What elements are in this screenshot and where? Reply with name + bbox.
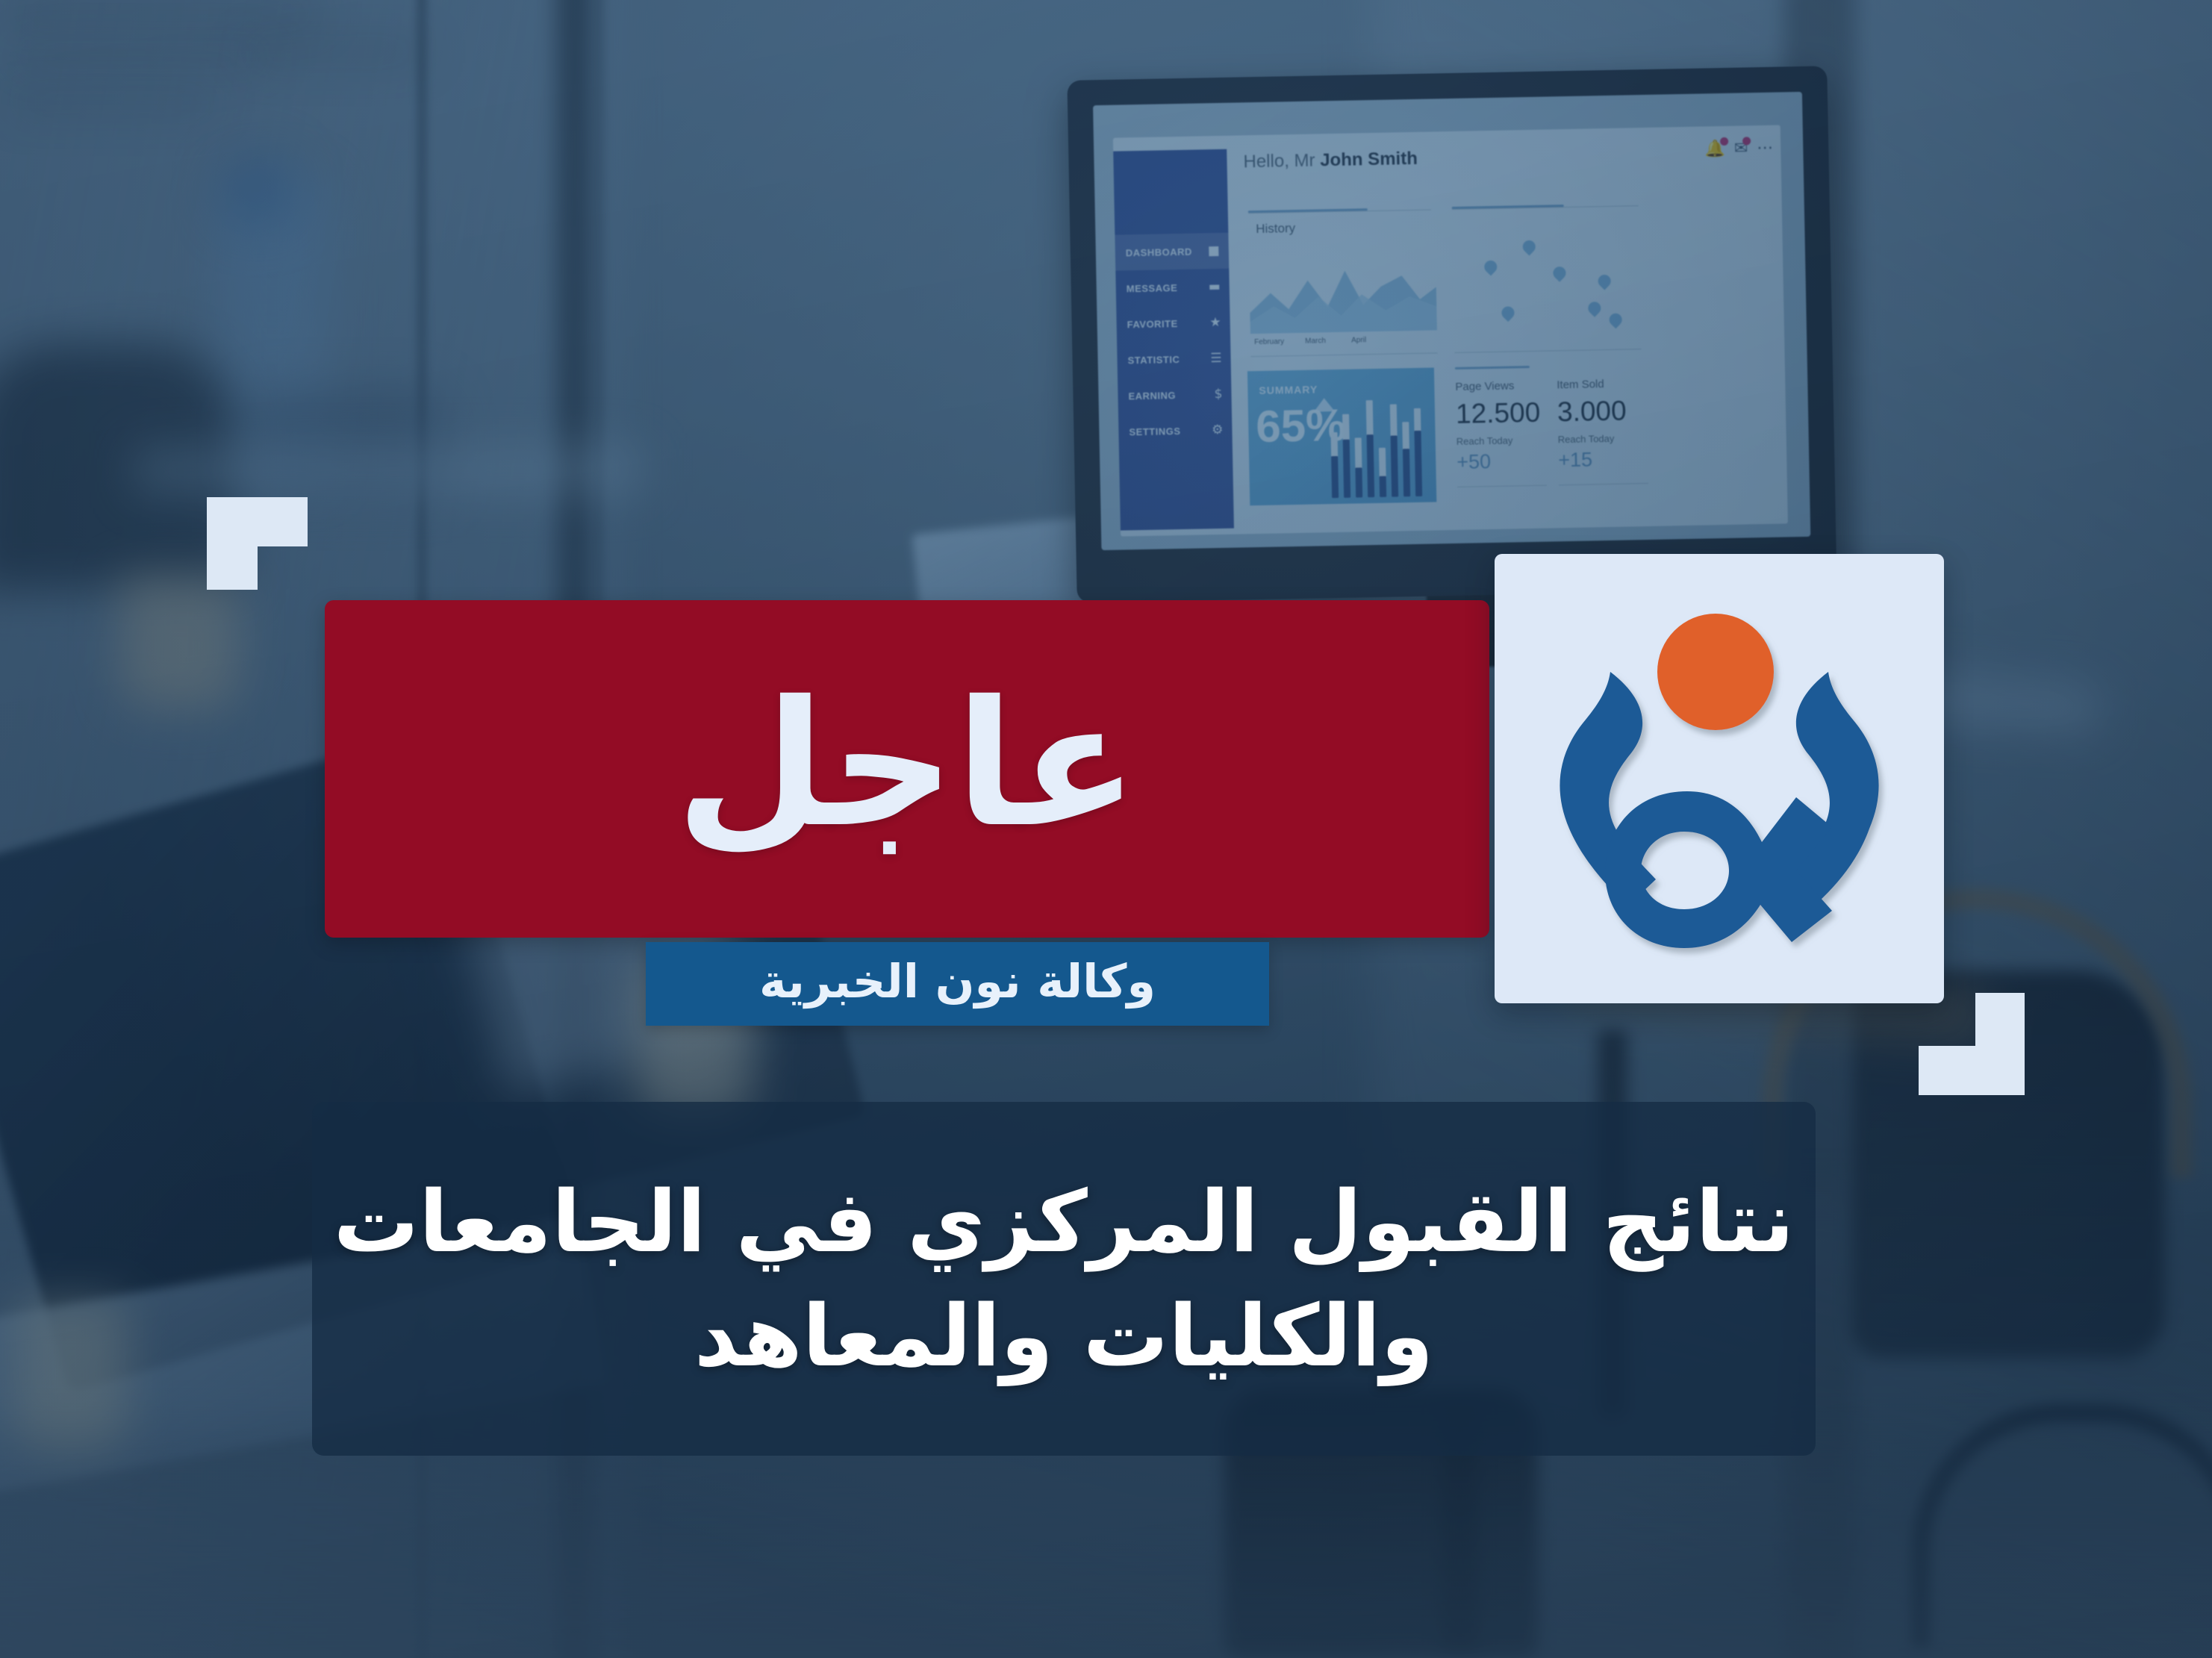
headline-line-1: نتائج القبول المركزي في الجامعات	[334, 1170, 1795, 1274]
noon-agency-logo-icon	[1495, 554, 1944, 1003]
agency-label: وكالة نون الخبرية	[759, 959, 1156, 1005]
urgent-banner: عاجل	[325, 600, 1489, 938]
corner-bracket-bottom-right	[1919, 993, 2025, 1095]
corner-bracket-top-left	[207, 497, 308, 590]
logo-orange-dot	[1657, 614, 1774, 730]
news-graphic-canvas: Hello, Mr John Smith 🔔 ✉ ⋯ DASHBOARD	[0, 0, 2212, 1658]
headline-panel: نتائج القبول المركزي في الجامعات والكليا…	[312, 1102, 1816, 1456]
agency-bar: وكالة نون الخبرية	[646, 942, 1269, 1026]
logo-card	[1495, 554, 1944, 1003]
headline-line-2: والكليات والمعاهد	[694, 1284, 1433, 1388]
urgent-label: عاجل	[676, 678, 1138, 851]
